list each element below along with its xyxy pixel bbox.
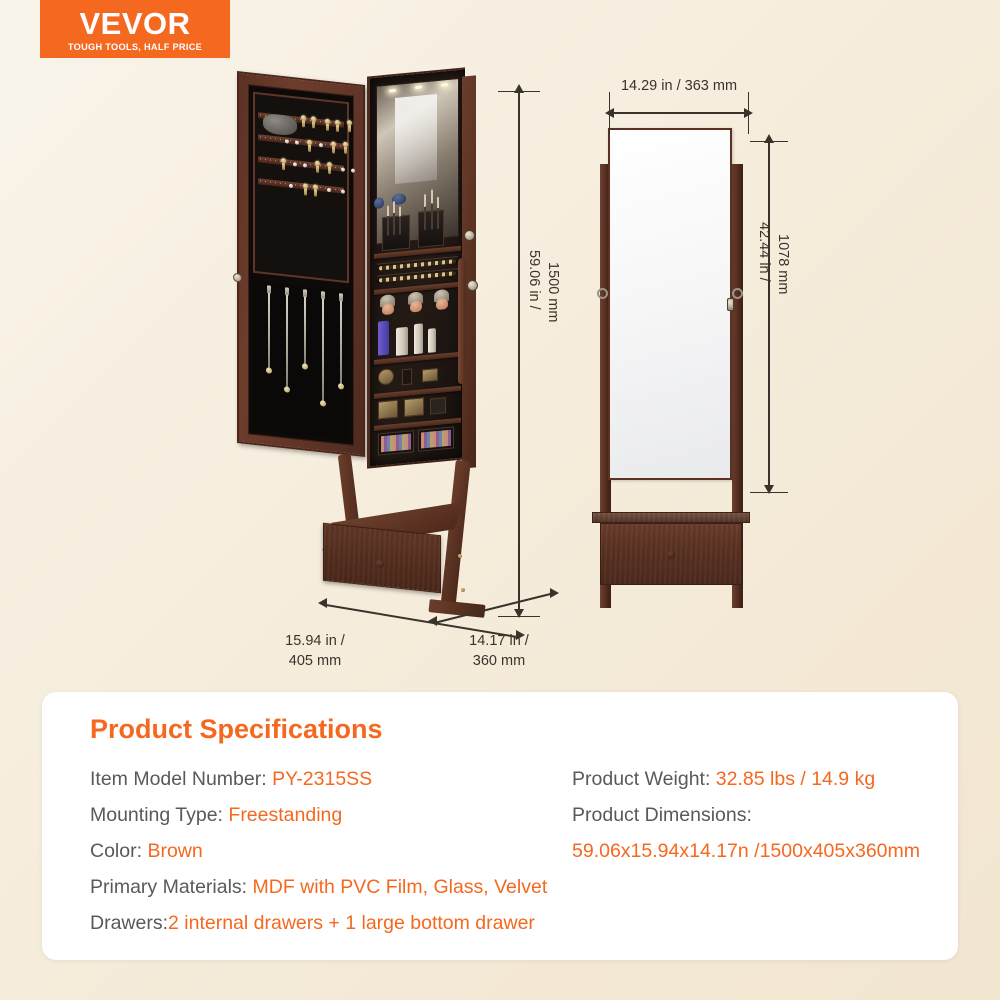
spec-row-model: Item Model Number: PY-2315SS (90, 768, 560, 791)
mirror-tick-bottom (750, 492, 788, 493)
brand-tagline: TOUGH TOOLS, HALF PRICE (68, 42, 202, 52)
full-length-mirror (608, 128, 732, 480)
storage-box (430, 397, 446, 415)
cabinet-door-panel (237, 71, 365, 457)
ring-holder (434, 289, 449, 302)
spec-row-drawers: Drawers:2 internal drawers + 1 large bot… (90, 912, 560, 935)
spec-label: Product Weight: (572, 768, 716, 790)
spec-row-weight: Product Weight: 32.85 lbs / 14.9 kg (572, 768, 972, 791)
lock-knob[interactable] (464, 230, 475, 241)
spec-value: Freestanding (228, 804, 342, 826)
screw-head (458, 554, 462, 558)
cabinet-side-handle[interactable] (458, 258, 466, 385)
spec-label: Product Dimensions: (572, 804, 752, 826)
brand-wordmark: VEVOR (79, 8, 190, 39)
vevor-logo: VEVOR TOUGH TOOLS, HALF PRICE (40, 0, 230, 58)
height-dimension-line (518, 92, 520, 616)
height-tick-bottom (498, 616, 540, 617)
cosmetic-bottle (428, 328, 436, 353)
cosmetic-bottle (414, 323, 423, 354)
cosmetic-bottle (378, 321, 389, 356)
dimension-mirror-height-2: 1078 mm (775, 234, 791, 294)
spec-value: 59.06x15.94x14.17n /1500x405x360mm (572, 840, 920, 862)
spec-row-dimensions-label: Product Dimensions: (572, 804, 972, 827)
storage-box (378, 400, 398, 420)
spec-value: PY-2315SS (272, 768, 372, 790)
lock-knob[interactable] (467, 280, 478, 291)
bracelet-rod (377, 268, 458, 283)
accessory-item (378, 368, 394, 386)
product-specifications-card: Product Specifications Item Model Number… (42, 692, 958, 960)
width-tick-right (748, 92, 749, 134)
brush-holder (382, 215, 410, 252)
door-knob-icon (233, 273, 242, 283)
spec-value: Brown (147, 840, 202, 862)
cabinet-body-interior (367, 67, 465, 468)
arrowhead-left-icon-2 (428, 616, 437, 626)
mirror-height-dimension-line (768, 142, 770, 492)
spec-column-right: Product Weight: 32.85 lbs / 14.9 kg Prod… (572, 768, 972, 876)
cosmetic-bottle (396, 327, 408, 356)
door-interior (248, 84, 354, 446)
ring-holder (380, 294, 395, 307)
mirror-tick-top (750, 141, 788, 142)
bottom-shelf (592, 512, 750, 523)
pivot-ring-left-icon (597, 288, 608, 299)
drawer-knob-icon[interactable] (376, 559, 384, 568)
width-dimension-line (613, 112, 745, 114)
bottom-drawer-front[interactable] (600, 523, 742, 585)
dimension-depth-left: 15.94 in / 405 mm (255, 632, 375, 671)
internal-drawer (418, 426, 454, 451)
stand-leg-right (440, 460, 471, 611)
product-front-view (586, 128, 756, 608)
spec-label: Primary Materials: (90, 876, 253, 898)
dimension-width-right: 14.29 in / 363 mm (586, 78, 772, 94)
spec-value: 32.85 lbs / 14.9 kg (716, 768, 875, 790)
necklace-hook-area (253, 281, 349, 441)
earring-rack (253, 92, 349, 283)
spec-value: 2 internal drawers + 1 large bottom draw… (168, 912, 535, 934)
internal-drawer (378, 430, 414, 455)
brush-holder (418, 209, 444, 247)
bottom-drawer[interactable] (323, 523, 441, 593)
drawer-knob-icon[interactable] (667, 551, 675, 559)
spec-row-materials: Primary Materials: MDF with PVC Film, Gl… (90, 876, 560, 899)
dimension-depth-right: 14.17 in / 360 mm (442, 632, 556, 671)
pivot-ring-right-icon (732, 288, 743, 299)
spec-label: Drawers: (90, 912, 168, 934)
dimension-height-left: 59.06 in / (526, 250, 542, 310)
height-tick-top (498, 91, 540, 92)
arrowhead-right-icon-2 (550, 588, 559, 598)
spec-label: Mounting Type: (90, 804, 228, 826)
spec-label: Color: (90, 840, 147, 862)
ring-holder (408, 291, 423, 304)
spec-value: MDF with PVC Film, Glass, Velvet (253, 876, 548, 898)
spec-label: Item Model Number: (90, 768, 272, 790)
spec-row-dimensions-value: 59.06x15.94x14.17n /1500x405x360mm (572, 840, 972, 863)
width-tick-left (609, 92, 610, 134)
dimension-height-left-2: 1500 mm (545, 262, 561, 322)
mirror-lock-knob[interactable] (727, 298, 734, 311)
screw-head (461, 588, 465, 592)
accessory-item (422, 368, 438, 383)
spec-row-color: Color: Brown (90, 840, 560, 863)
page-background: VEVOR TOUGH TOOLS, HALF PRICE (0, 0, 1000, 1000)
dimension-mirror-height: 42.44 in / (756, 222, 772, 282)
storage-box (404, 397, 424, 417)
accessory-item (402, 368, 412, 385)
product-angled-open-view (215, 62, 545, 642)
spec-panel-title: Product Specifications (90, 714, 383, 745)
arrowhead-left-icon (318, 598, 327, 608)
spec-column-left: Item Model Number: PY-2315SS Mounting Ty… (90, 768, 560, 947)
spec-row-mounting: Mounting Type: Freestanding (90, 804, 560, 827)
